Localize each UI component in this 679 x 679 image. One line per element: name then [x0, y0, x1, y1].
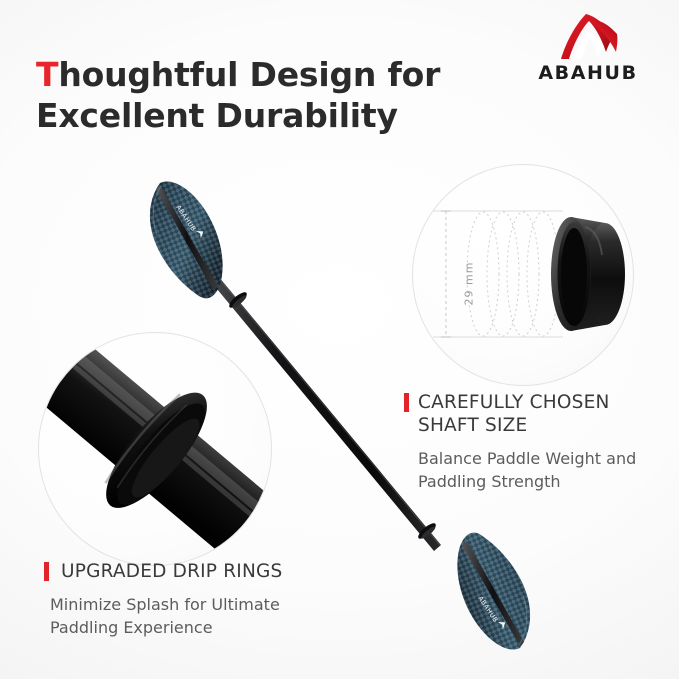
- shaft-size-zoom-bubble: 29 mm: [412, 164, 634, 386]
- title-accent-letter: T: [36, 55, 58, 94]
- brand-logo: ABAHUB: [523, 12, 653, 83]
- brand-wordmark: ABAHUB: [523, 64, 653, 83]
- callout-drip-title: UPGRADED DRIP RINGS: [61, 560, 282, 583]
- callout-drip-body: Minimize Splash for Ultimate Paddling Ex…: [50, 593, 344, 639]
- drip-ring-closeup-illustration: [39, 333, 271, 565]
- paddle-blade-lower: ABAHUB: [457, 533, 530, 650]
- callout-shaft-title-line1: CAREFULLY CHOSEN: [418, 392, 610, 413]
- blade-logo-upper: ABAHUB: [174, 202, 205, 241]
- blade-logo-lower: ABAHUB: [476, 593, 507, 632]
- red-marker-bar-icon: [404, 393, 409, 412]
- callout-shaft-body-line1: Balance Paddle Weight and: [418, 449, 636, 468]
- callout-shaft-size: CAREFULLY CHOSEN SHAFT SIZE Balance Padd…: [404, 391, 669, 494]
- callout-shaft-heading: CAREFULLY CHOSEN SHAFT SIZE: [404, 391, 669, 437]
- abahub-a-swoosh-icon: [556, 12, 620, 62]
- callout-drip-rings: UPGRADED DRIP RINGS Minimize Splash for …: [44, 560, 344, 640]
- title-line-2: Excellent Durability: [36, 96, 398, 135]
- infographic-canvas: ABAHUB Thoughtful Design for Excellent D…: [0, 0, 679, 679]
- paddle-blade-upper: ABAHUB: [150, 182, 223, 299]
- callout-drip-body-line1: Minimize Splash for Ultimate: [50, 595, 280, 614]
- title-line-1: houghtful Design for: [58, 55, 440, 94]
- shaft-dimension-label: 29 mm: [462, 262, 475, 306]
- svg-text:ABAHUB: ABAHUB: [476, 595, 499, 624]
- drip-ring-lower: [416, 521, 438, 542]
- callout-shaft-body: Balance Paddle Weight and Paddling Stren…: [418, 447, 669, 493]
- callout-shaft-body-line2: Paddling Strength: [418, 472, 561, 491]
- callout-drip-body-line2: Paddling Experience: [50, 618, 213, 637]
- callout-shaft-title: CAREFULLY CHOSEN SHAFT SIZE: [418, 391, 610, 437]
- shaft-diameter-diagram: [413, 165, 633, 385]
- drip-ring-zoom-bubble: [38, 332, 272, 566]
- callout-shaft-title-line2: SHAFT SIZE: [418, 415, 527, 436]
- red-marker-bar-icon: [44, 562, 49, 581]
- page-title: Thoughtful Design for Excellent Durabili…: [36, 55, 496, 136]
- callout-drip-heading: UPGRADED DRIP RINGS: [44, 560, 344, 583]
- drip-ring-upper: [227, 290, 249, 311]
- svg-text:ABAHUB: ABAHUB: [174, 204, 197, 233]
